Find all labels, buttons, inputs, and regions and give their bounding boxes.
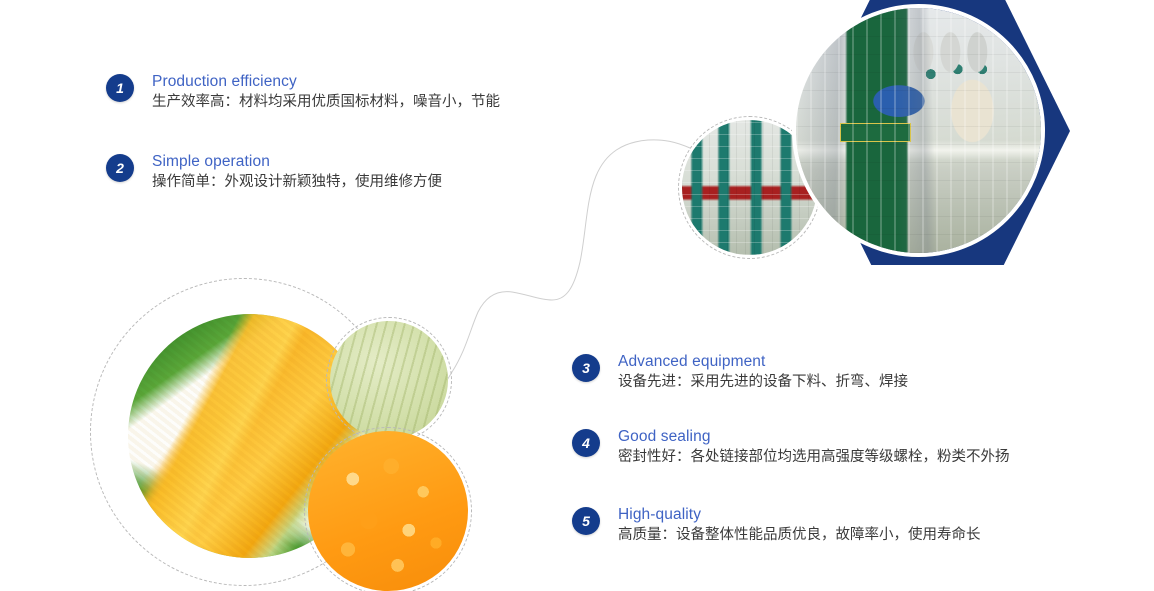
feature-heading-3: Advanced equipment bbox=[618, 352, 908, 371]
main-mill-photo[interactable] bbox=[792, 4, 1045, 257]
feature-badge-1: 1 bbox=[106, 74, 134, 102]
feature-heading-1: Production efficiency bbox=[152, 72, 500, 91]
feature-description-4: 密封性好：各处链接部位均选用高强度等级螺栓，粉类不外扬 bbox=[618, 447, 1010, 468]
feature-text-3: Advanced equipment 设备先进：采用先进的设备下料、折弯、焊接 bbox=[618, 352, 908, 393]
corn-grits-photo[interactable] bbox=[308, 431, 468, 591]
feature-description-3: 设备先进：采用先进的设备下料、折弯、焊接 bbox=[618, 372, 908, 393]
feature-item-1[interactable]: 1 Production efficiency 生产效率高：材料均采用优质国标材… bbox=[106, 72, 500, 113]
corn-paste-image bbox=[330, 321, 448, 439]
factory-banner bbox=[840, 123, 911, 142]
feature-badge-2: 2 bbox=[106, 154, 134, 182]
feature-item-5[interactable]: 5 High-quality 高质量：设备整体性能品质优良，故障率小，使用寿命长 bbox=[572, 505, 981, 546]
feature-item-3[interactable]: 3 Advanced equipment 设备先进：采用先进的设备下料、折弯、焊… bbox=[572, 352, 908, 393]
feature-text-4: Good sealing 密封性好：各处链接部位均选用高强度等级螺栓，粉类不外扬 bbox=[618, 427, 1010, 468]
feature-heading-4: Good sealing bbox=[618, 427, 1010, 446]
feature-heading-5: High-quality bbox=[618, 505, 981, 524]
feature-badge-5: 5 bbox=[572, 507, 600, 535]
feature-description-1: 生产效率高：材料均采用优质国标材料，噪音小，节能 bbox=[152, 92, 500, 113]
feature-text-2: Simple operation 操作简单：外观设计新颖独特，使用维修方便 bbox=[152, 152, 442, 193]
feature-description-2: 操作简单：外观设计新颖独特，使用维修方便 bbox=[152, 172, 442, 193]
feature-showcase-page: 1 Production efficiency 生产效率高：材料均采用优质国标材… bbox=[0, 0, 1154, 591]
feature-text-5: High-quality 高质量：设备整体性能品质优良，故障率小，使用寿命长 bbox=[618, 505, 981, 546]
corn-photo-cluster bbox=[90, 278, 490, 591]
feature-item-2[interactable]: 2 Simple operation 操作简单：外观设计新颖独特，使用维修方便 bbox=[106, 152, 442, 193]
feature-item-4[interactable]: 4 Good sealing 密封性好：各处链接部位均选用高强度等级螺栓，粉类不… bbox=[572, 427, 1010, 468]
corn-paste-photo[interactable] bbox=[330, 321, 448, 439]
feature-text-1: Production efficiency 生产效率高：材料均采用优质国标材料，… bbox=[152, 72, 500, 113]
feature-heading-2: Simple operation bbox=[152, 152, 442, 171]
feature-description-5: 高质量：设备整体性能品质优良，故障率小，使用寿命长 bbox=[618, 525, 981, 546]
main-mill-photo-image bbox=[796, 8, 1041, 253]
feature-badge-4: 4 bbox=[572, 429, 600, 457]
corn-grits-image bbox=[308, 431, 468, 591]
feature-badge-3: 3 bbox=[572, 354, 600, 382]
mill-photo-cluster bbox=[660, 0, 1154, 280]
